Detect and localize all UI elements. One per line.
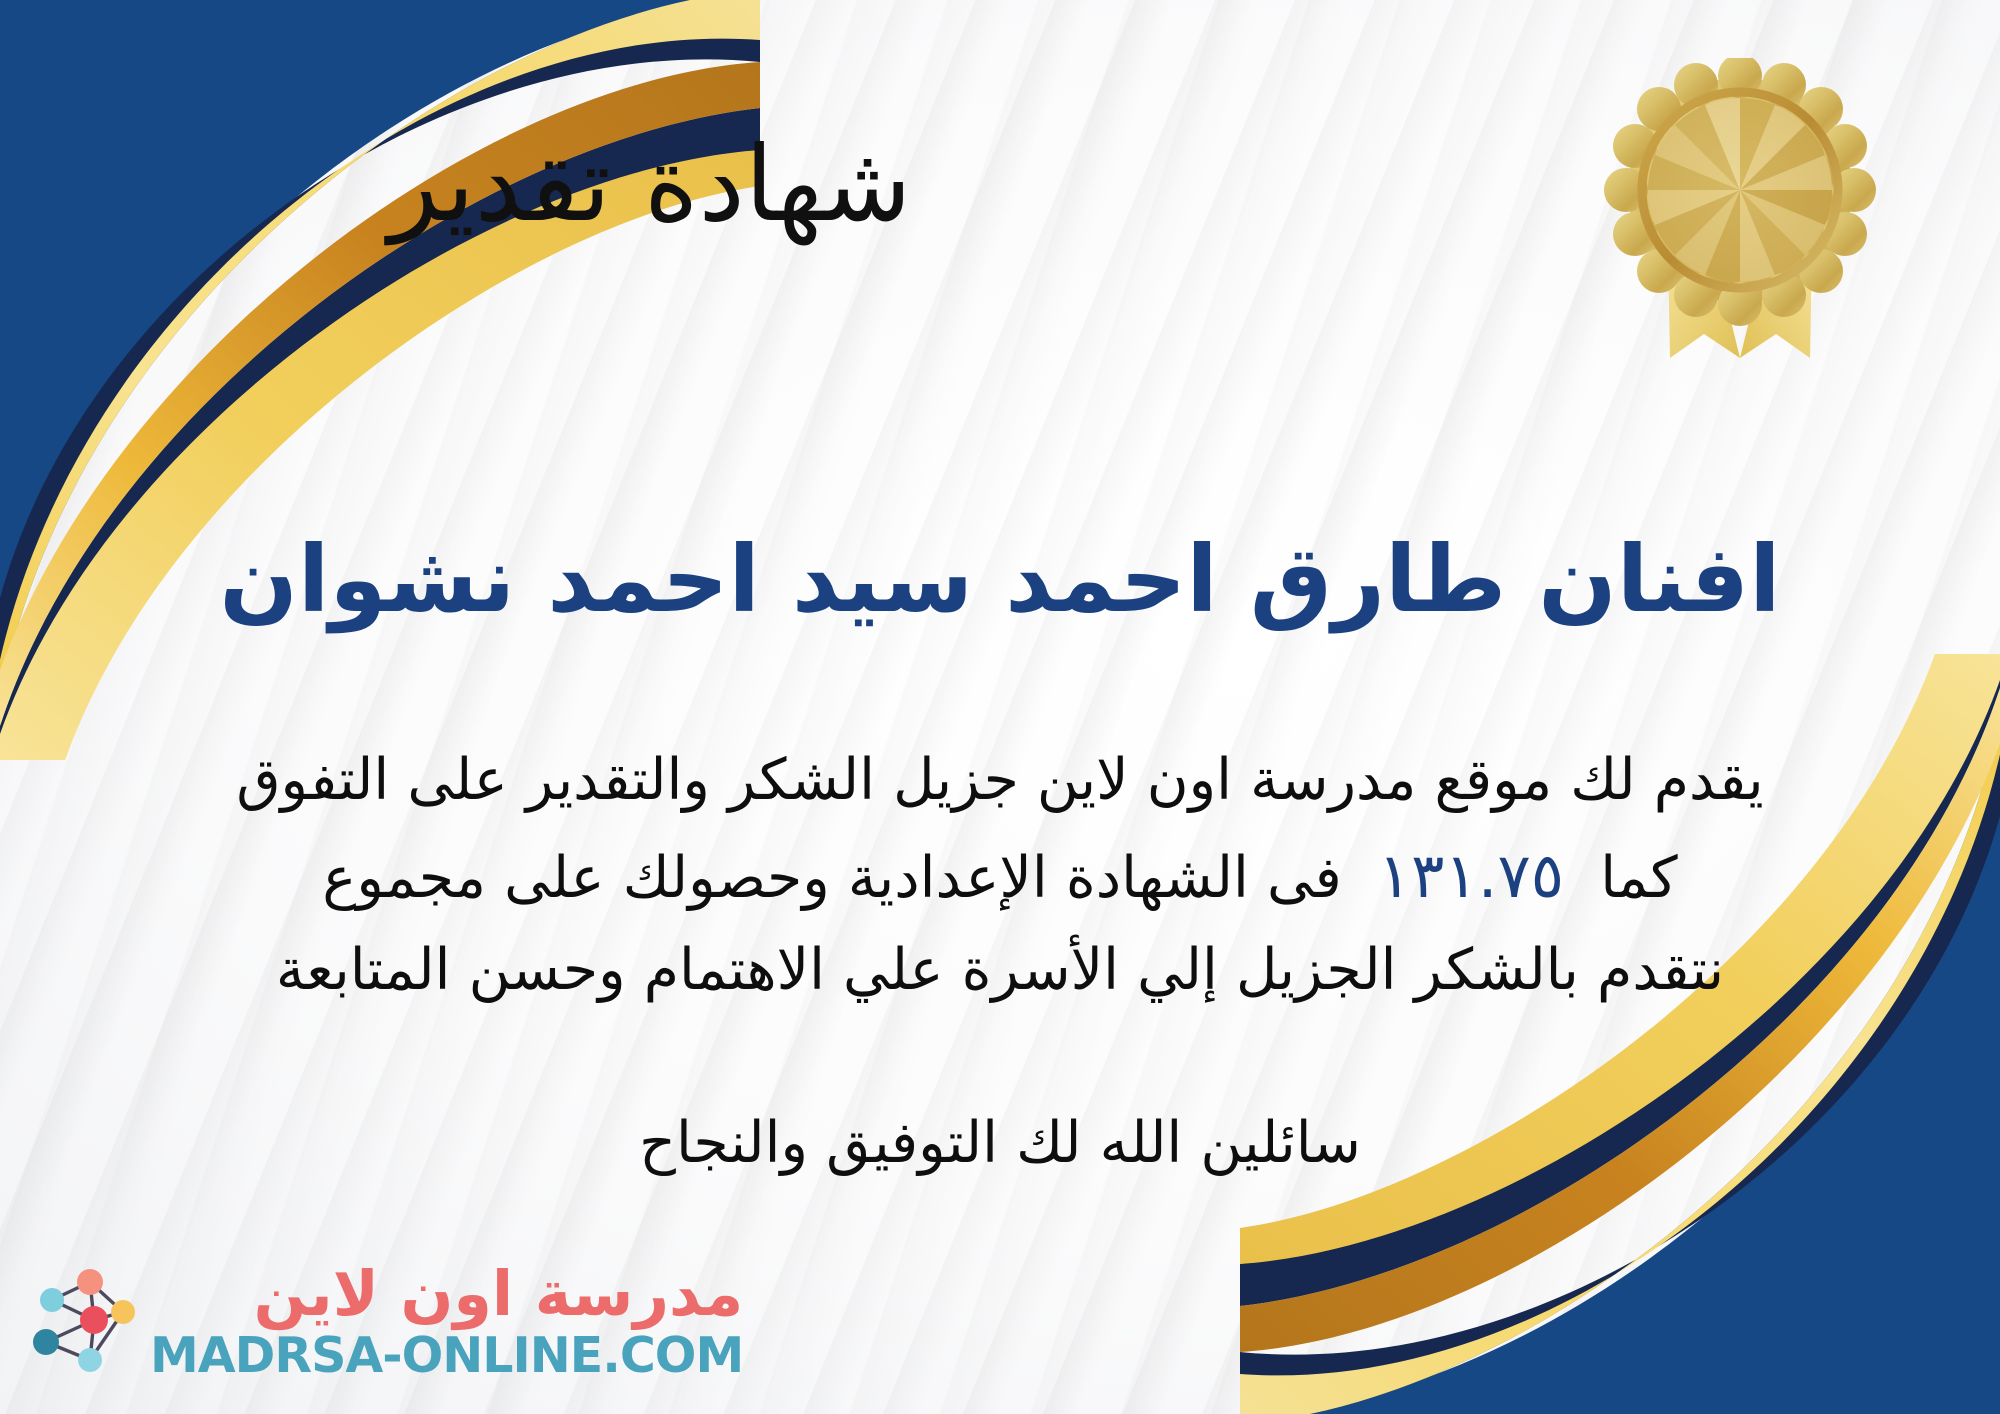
brand-text-block: مدرسة اون لاين MADRSA-ONLINE.COM	[150, 1263, 743, 1380]
body-line-3: نتقدم بالشكر الجزيل إلي الأسرة علي الاهت…	[40, 925, 1960, 1016]
brand-arabic-name: مدرسة اون لاين	[254, 1263, 744, 1325]
brand-website: MADRSA-ONLINE.COM	[150, 1331, 743, 1380]
body-line-1: يقدم لك موقع مدرسة اون لاين جزيل الشكر و…	[40, 735, 1960, 826]
gold-medal-ribbon-icon	[1600, 58, 1880, 388]
body-line-2-suffix: فى الشهادة الإعدادية وحصولك على مجموع	[322, 845, 1341, 911]
score-value: ١٣١.٧٥	[1360, 839, 1582, 912]
body-line-2-prefix: كما	[1600, 845, 1677, 911]
brand-logo[interactable]: مدرسة اون لاين MADRSA-ONLINE.COM	[24, 1262, 743, 1380]
student-name: افنان طارق احمد سيد احمد نشوان	[0, 525, 2000, 635]
closing-line: سائلين الله لك التوفيق والنجاح	[0, 1110, 2000, 1176]
network-nodes-icon	[24, 1262, 136, 1380]
body-line-2: كما ١٣١.٧٥ فى الشهادة الإعدادية وحصولك ع…	[40, 826, 1960, 925]
certificate-title: شهادة تقدير	[0, 125, 1300, 245]
certificate-canvas: شهادة تقدير افنان طارق احمد سيد احمد نشو…	[0, 0, 2000, 1414]
certificate-body: يقدم لك موقع مدرسة اون لاين جزيل الشكر و…	[40, 735, 1960, 1017]
